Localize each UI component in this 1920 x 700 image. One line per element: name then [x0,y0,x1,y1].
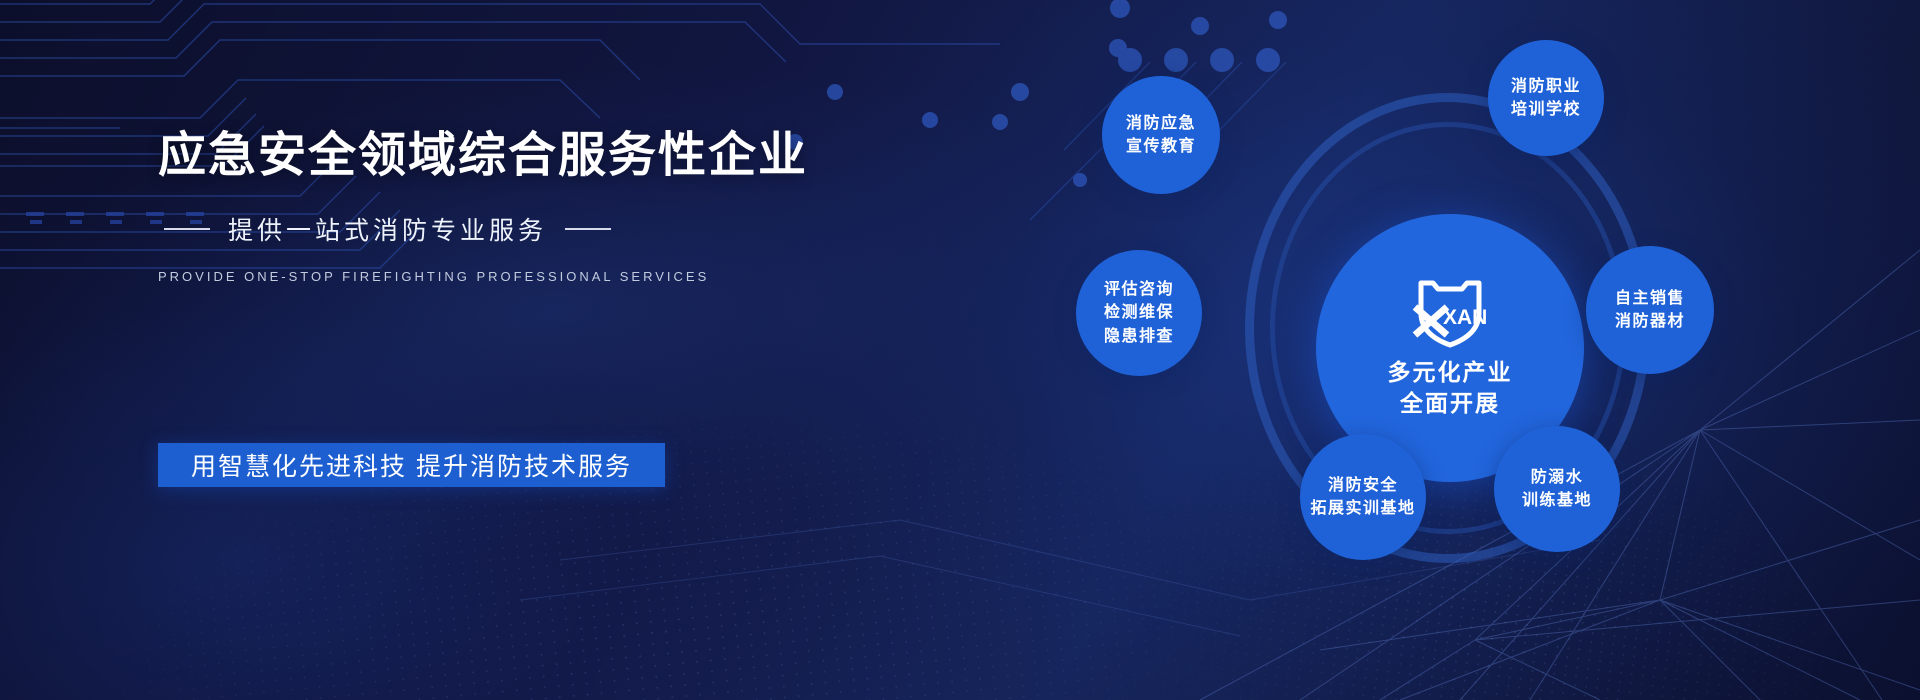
node-fire-emergency-publicity[interactable]: 消防应急 宣传教育 [1102,76,1220,194]
center-line-1: 多元化产业 [1388,357,1513,388]
svg-text:XAN: XAN [1443,306,1487,329]
cta-button-label: 用智慧化先进科技 提升消防技术服务 [191,447,632,483]
node-line: 培训学校 [1511,98,1581,121]
subtitle-english: PROVIDE ONE-STOP FIREFIGHTING PROFESSION… [158,269,918,284]
node-fire-vocational-school[interactable]: 消防职业 培训学校 [1488,40,1604,156]
cta-button[interactable]: 用智慧化先进科技 提升消防技术服务 [158,443,665,487]
page-title: 应急安全领域综合服务性企业 [158,128,918,185]
node-line: 消防职业 [1511,75,1581,98]
node-line: 消防安全 [1328,474,1398,497]
node-line: 检测维保 [1104,301,1174,324]
node-line: 评估咨询 [1104,278,1174,301]
node-line: 拓展实训基地 [1310,497,1415,520]
subtitle-chinese: 提供一站式消防专业服务 [228,211,547,247]
node-assessment-inspection[interactable]: 评估咨询 检测维保 隐患排查 [1076,250,1202,376]
node-equipment-sales[interactable]: 自主销售 消防器材 [1586,246,1714,374]
node-line: 宣传教育 [1126,135,1196,158]
center-line-2: 全面开展 [1400,388,1500,419]
node-line: 消防器材 [1615,310,1685,333]
subtitle-row: 提供一站式消防专业服务 [164,211,918,247]
shield-icon: XAN [1407,277,1493,351]
node-line: 隐患排查 [1104,325,1174,348]
node-drowning-prevention-base[interactable]: 防溺水 训练基地 [1494,426,1620,552]
services-circle-diagram: XAN 多元化产业 全面开展 消防应急 宣传教育 消防职业 培训学校 评估咨询 … [1118,62,1778,622]
rule-left-icon [164,228,210,230]
node-line: 消防应急 [1126,112,1196,135]
headline-block: 应急安全领域综合服务性企业 提供一站式消防专业服务 PROVIDE ONE-ST… [158,128,918,284]
node-line: 自主销售 [1615,287,1685,310]
rule-right-icon [565,228,611,230]
node-line: 防溺水 [1531,466,1584,489]
node-line: 训练基地 [1522,489,1592,512]
node-safety-training-base[interactable]: 消防安全 拓展实训基地 [1300,434,1426,560]
hero-banner: 应急安全领域综合服务性企业 提供一站式消防专业服务 PROVIDE ONE-ST… [0,0,1920,700]
